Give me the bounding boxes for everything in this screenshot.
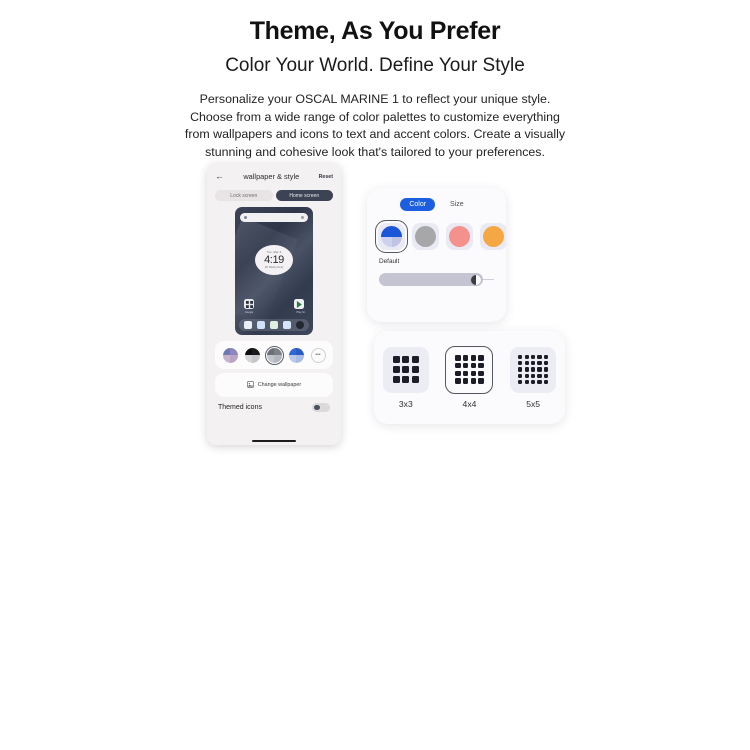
grid-option-5x5[interactable]: 5x5 [510, 347, 556, 409]
dock-contacts-icon[interactable] [283, 321, 291, 329]
grid-label-5x5: 5x5 [526, 399, 540, 409]
slider-knob[interactable] [471, 275, 481, 285]
change-wallpaper-label: Change wallpaper [258, 382, 301, 388]
tab-home-screen[interactable]: Home screen [276, 190, 334, 201]
themed-icons-label: Themed icons [218, 404, 262, 411]
wallpaper-icon [247, 381, 254, 390]
search-bar-preview [240, 213, 308, 222]
app-label-google: Google [241, 311, 257, 314]
segment-color[interactable]: Color [400, 198, 435, 211]
dock-photos-icon[interactable] [270, 321, 278, 329]
dock-phone-icon[interactable] [244, 321, 252, 329]
dock [239, 319, 309, 331]
swatch-gray-selected[interactable] [267, 348, 282, 363]
wallpaper-style-phone-mockup: ← wallpaper & style Reset Lock screen Ho… [207, 163, 341, 445]
color-size-segmented-control: Color Size [367, 198, 506, 211]
app-icon-google[interactable] [244, 299, 254, 309]
color-swatch-default[interactable] [378, 223, 405, 250]
swatch-black-white[interactable] [245, 348, 260, 363]
themed-icons-toggle[interactable] [312, 403, 330, 412]
color-swatch-orange[interactable] [480, 223, 506, 250]
back-arrow-icon[interactable]: ← [215, 172, 224, 181]
app-label-play-store: Play St. [293, 311, 309, 314]
grid-size-card: 3x3 4x4 5x5 [374, 331, 565, 424]
grid-preview-5x5 [510, 347, 556, 393]
dock-messages-icon[interactable] [257, 321, 265, 329]
theme-body-text: Personalize your OSCAL MARINE 1 to refle… [179, 91, 571, 161]
grid-option-4x4[interactable]: 4x4 [446, 347, 492, 409]
app-icon-play-store[interactable] [294, 299, 304, 309]
change-wallpaper-button[interactable]: Change wallpaper [215, 373, 333, 397]
theme-subheading: Color Your World. Define Your Style [0, 46, 750, 77]
themed-icons-row: Themed icons [215, 403, 333, 412]
clock-time: 4:19 [264, 254, 284, 266]
swatch-violet-blue[interactable] [223, 348, 238, 363]
grid-option-3x3[interactable]: 3x3 [383, 347, 429, 409]
wallpaper-swatch-row: ••• [215, 341, 333, 369]
segment-size[interactable]: Size [441, 198, 473, 211]
phone-screen-title: wallpaper & style [224, 172, 319, 181]
clock-weather: 18° Mostly cloudy [265, 266, 284, 269]
phone-home-indicator [252, 440, 296, 442]
color-picker-card: Color Size Default [367, 188, 506, 322]
theme-heading: Theme, As You Prefer [0, 0, 750, 46]
grid-label-4x4: 4x4 [463, 399, 477, 409]
contrast-slider[interactable] [379, 273, 494, 286]
phone-app-bar: ← wallpaper & style Reset [215, 170, 333, 183]
dock-camera-icon[interactable] [296, 321, 304, 329]
color-swatch-row [367, 223, 506, 250]
screen-tabs: Lock screen Home screen [215, 190, 333, 201]
swatch-blue[interactable] [289, 348, 304, 363]
home-screen-preview[interactable]: Tue, Mar 4 4:19 18° Mostly cloudy Google… [235, 207, 313, 335]
theme-section: Theme, As You Prefer Color Your World. D… [0, 0, 750, 470]
grid-label-3x3: 3x3 [399, 399, 413, 409]
grid-preview-3x3 [383, 347, 429, 393]
slider-fill [379, 273, 483, 286]
widgets-section: Quickly Add Widgets No Drag, All Ease Th… [0, 470, 750, 750]
color-swatch-gray[interactable] [412, 223, 439, 250]
default-color-label: Default [379, 258, 506, 265]
tab-lock-screen[interactable]: Lock screen [215, 190, 273, 201]
reset-button[interactable]: Reset [319, 174, 333, 180]
color-swatch-salmon[interactable] [446, 223, 473, 250]
home-clock-widget: Tue, Mar 4 4:19 18° Mostly cloudy [255, 245, 293, 275]
grid-preview-4x4 [446, 347, 492, 393]
more-swatches-button[interactable]: ••• [311, 348, 326, 363]
